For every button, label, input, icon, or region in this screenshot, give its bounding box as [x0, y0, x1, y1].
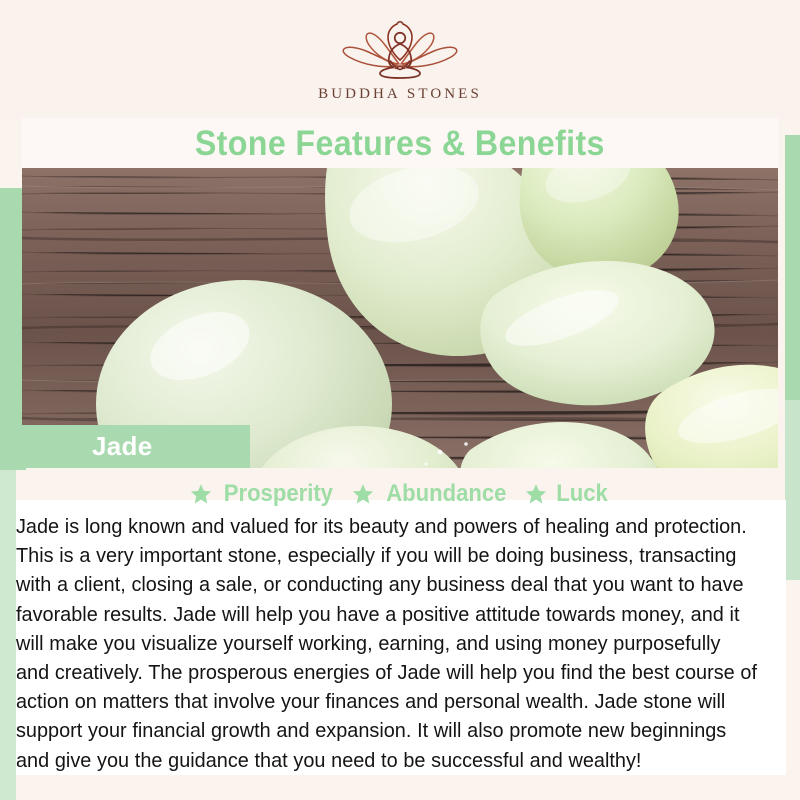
lotus-meditation-figure-icon — [325, 18, 475, 80]
decor-stripe-left-lower — [0, 470, 16, 800]
description-text: Jade is long known and valued for its be… — [16, 512, 759, 775]
benefit-item-abundance: Abundance — [352, 480, 512, 508]
brand-wordmark: BUDDHA STONES — [318, 86, 482, 103]
page-title-band: Stone Features & Benefits — [22, 118, 778, 168]
benefit-label: Luck — [556, 480, 608, 508]
benefit-label: Abundance — [386, 480, 506, 508]
benefit-item-luck: Luck — [525, 480, 610, 508]
benefit-item-prosperity: Prosperity — [190, 480, 338, 508]
infographic-page: BUDDHA STONES — [0, 0, 800, 800]
benefit-label: Prosperity — [224, 480, 333, 508]
stone-name-badge: Jade — [22, 425, 250, 468]
benefits-row: Prosperity Abundance Luck — [0, 478, 800, 510]
brand-header: BUDDHA STONES — [0, 0, 800, 120]
star-icon — [352, 483, 374, 505]
star-icon — [190, 483, 212, 505]
star-icon — [525, 483, 547, 505]
jade-stones-photo — [22, 168, 778, 468]
page-title: Stone Features & Benefits — [195, 126, 605, 161]
stone-name-label: Jade — [92, 431, 152, 462]
stone-description: Jade is long known and valued for its be… — [16, 512, 786, 775]
